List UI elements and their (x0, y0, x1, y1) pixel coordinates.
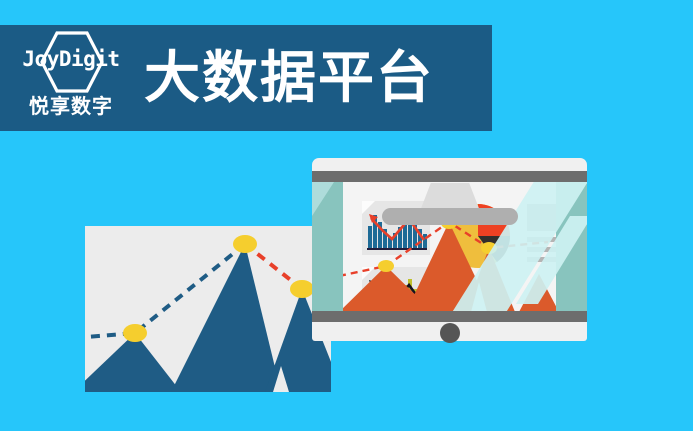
monitor-bottom-bar (312, 311, 587, 322)
power-indicator-icon (440, 323, 460, 343)
background-chart-svg (85, 226, 331, 392)
orange-mountain-far-right (519, 274, 556, 312)
header-banner: JoyDigit 悦享数字 大数据平台 (0, 25, 492, 131)
poster-canvas: JoyDigit 悦享数字 大数据平台 (0, 0, 693, 431)
page-title: 大数据平台 (144, 50, 434, 106)
background-area-chart (85, 226, 331, 392)
monitor-stand-base (382, 208, 518, 225)
mountain-shape-center (171, 244, 281, 392)
screen-data-marker (378, 260, 394, 272)
brand-logo: JoyDigit 悦享数字 (12, 29, 130, 127)
screen-data-marker (481, 242, 497, 254)
data-marker (290, 280, 314, 298)
screen-area-chart-svg (343, 222, 556, 312)
glare-corner-left (312, 182, 334, 216)
logo-wordmark: JoyDigit (12, 49, 130, 70)
data-marker (233, 235, 257, 253)
data-marker (123, 324, 147, 342)
logo-subtitle: 悦享数字 (12, 97, 130, 117)
monitor-top-bar (312, 171, 587, 182)
